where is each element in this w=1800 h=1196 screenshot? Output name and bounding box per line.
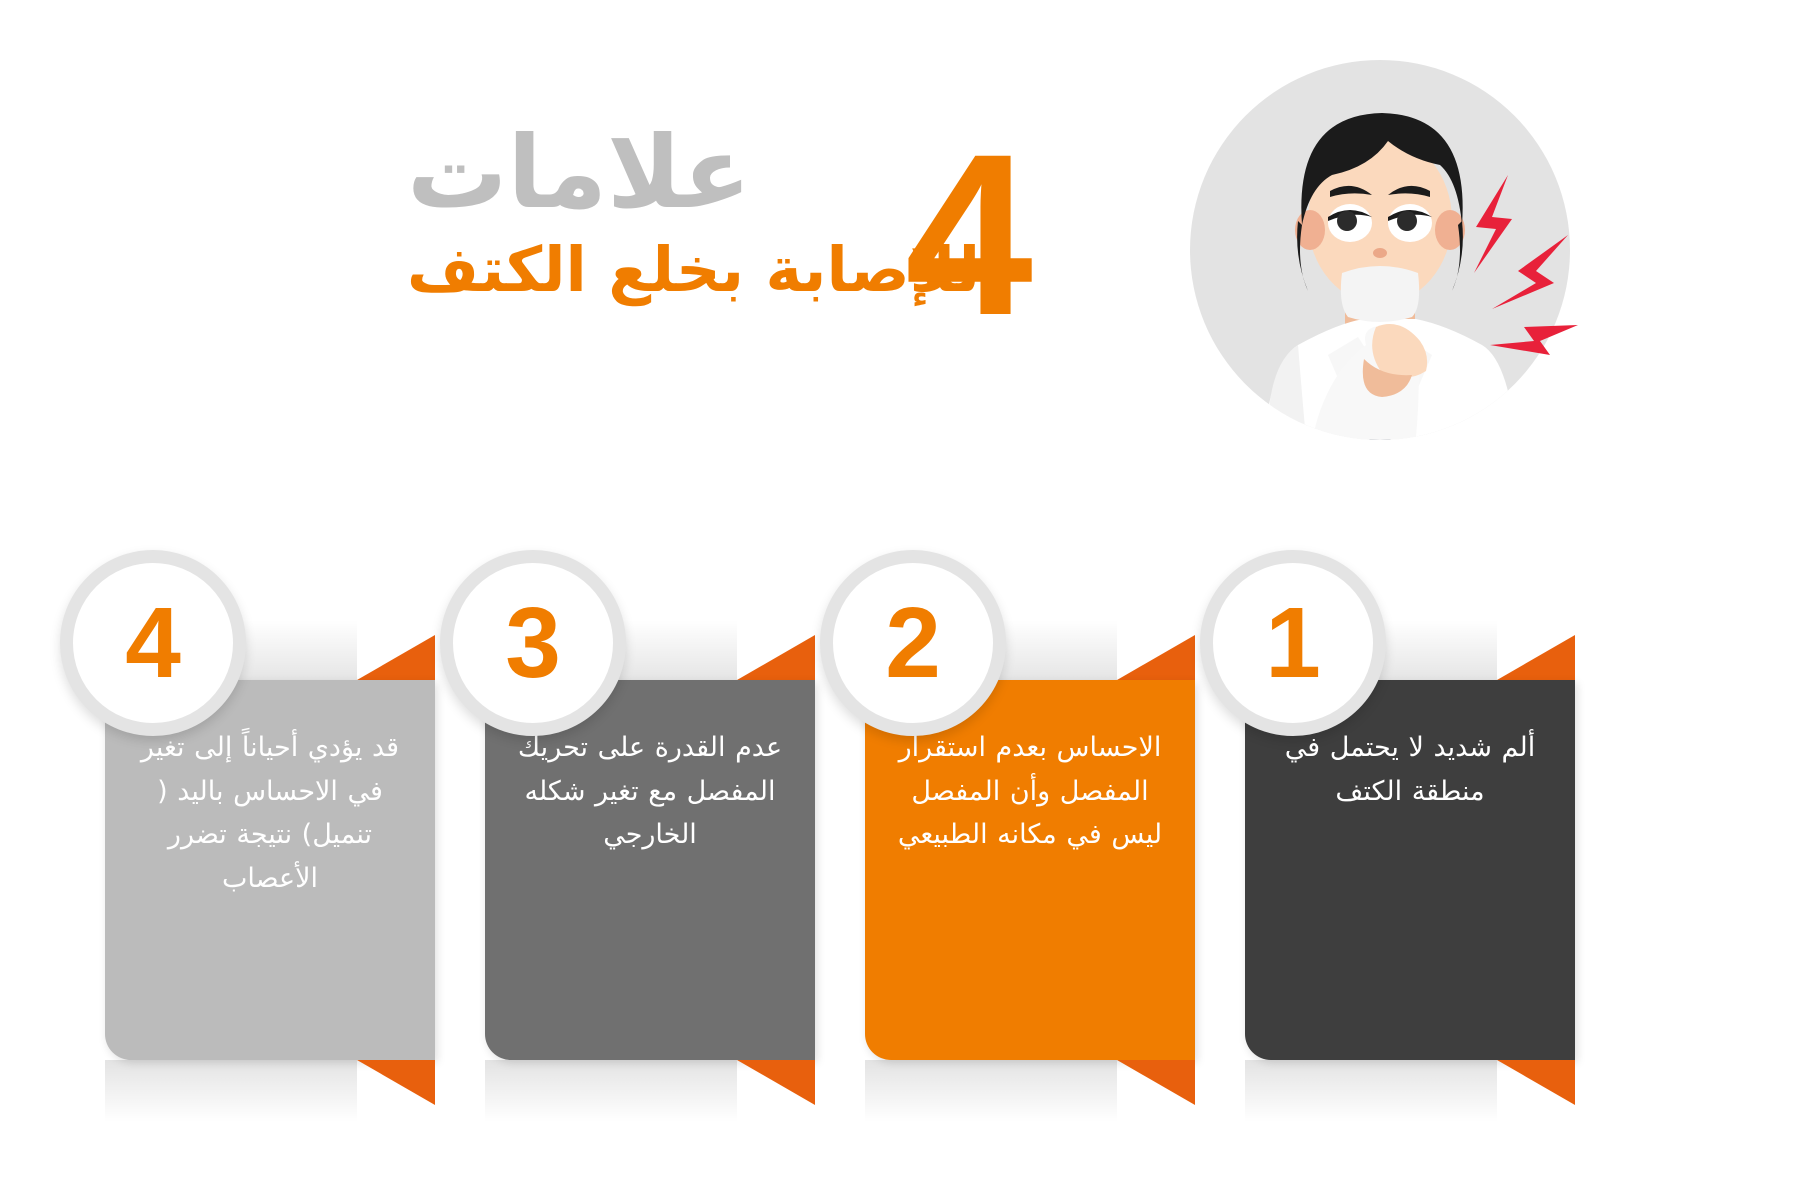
fold-top-triangle-icon [737,635,815,680]
card-body: الاحساس بعدم استقرار المفصل وأن المفصل ل… [865,680,1195,1060]
card-text: الاحساس بعدم استقرار المفصل وأن المفصل ل… [895,726,1165,857]
fold-bottom-triangle-icon [1117,1060,1195,1105]
man-holding-painful-shoulder-illustration [1190,45,1590,465]
card-body: قد يؤدي أحياناً إلى تغير في الاحساس بالي… [105,680,435,1060]
card-shade-bottom [1245,1060,1497,1122]
sign-card-2[interactable]: الاحساس بعدم استقرار المفصل وأن المفصل ل… [820,520,1220,1140]
card-shade-bottom [105,1060,357,1122]
card-number-badge[interactable]: 2 [820,550,1006,736]
card-text: عدم القدرة على تحريك المفصل مع تغير شكله… [515,726,785,857]
sign-card-1[interactable]: ألم شديد لا يحتمل في منطقة الكتف 1 [1200,520,1600,1140]
card-number-label: 3 [505,593,561,693]
title-block: علامات للإصابة بخلع الكتف [407,120,980,309]
fold-bottom-triangle-icon [737,1060,815,1105]
card-number-label: 4 [125,593,181,693]
card-shade-bottom [865,1060,1117,1122]
card-shade-bottom [485,1060,737,1122]
fold-top-triangle-icon [1497,635,1575,680]
fold-bottom-triangle-icon [1497,1060,1575,1105]
fold-top-triangle-icon [1117,635,1195,680]
card-number-label: 1 [1265,593,1321,693]
signs-cards-row: قد يؤدي أحياناً إلى تغير في الاحساس بالي… [0,520,1800,1140]
card-text: ألم شديد لا يحتمل في منطقة الكتف [1275,726,1545,813]
page-title-primary: علامات [407,120,980,225]
page-title-secondary: للإصابة بخلع الكتف [407,231,980,309]
fold-top-triangle-icon [357,635,435,680]
card-number-label: 2 [885,593,941,693]
header-section: علامات للإصابة بخلع الكتف 4 [0,0,1800,500]
header-count-number: 4 [905,120,1033,350]
sign-card-4[interactable]: قد يؤدي أحياناً إلى تغير في الاحساس بالي… [60,520,460,1140]
card-text: قد يؤدي أحياناً إلى تغير في الاحساس بالي… [135,726,405,901]
card-body: ألم شديد لا يحتمل في منطقة الكتف [1245,680,1575,1060]
sign-card-3[interactable]: عدم القدرة على تحريك المفصل مع تغير شكله… [440,520,840,1140]
fold-bottom-triangle-icon [357,1060,435,1105]
card-number-badge[interactable]: 1 [1200,550,1386,736]
card-body: عدم القدرة على تحريك المفصل مع تغير شكله… [485,680,815,1060]
card-number-badge[interactable]: 3 [440,550,626,736]
card-number-badge[interactable]: 4 [60,550,246,736]
